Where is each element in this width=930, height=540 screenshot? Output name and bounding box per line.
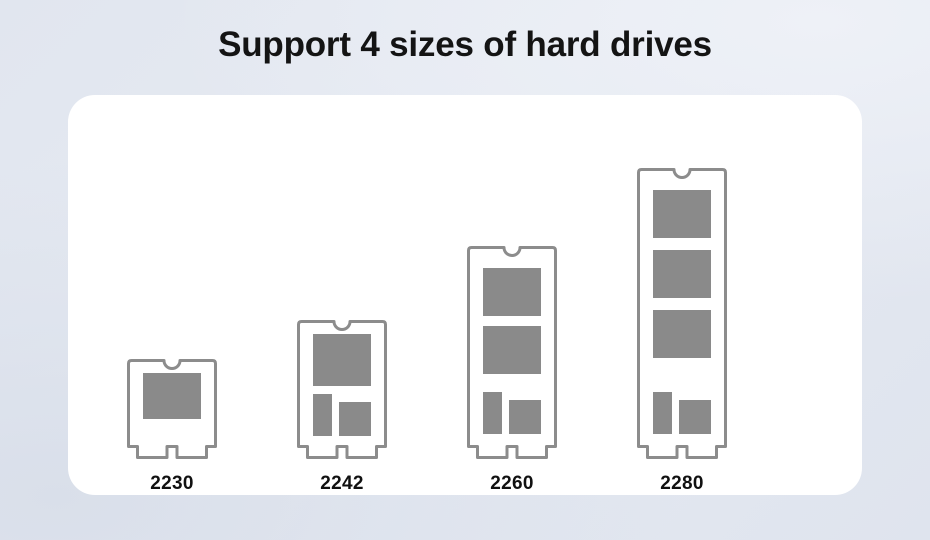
chip-narrow — [483, 392, 502, 434]
chip-square — [509, 400, 541, 434]
chip-square — [679, 400, 711, 434]
m2-ssd-module-icon — [450, 246, 574, 459]
module-label-2230: 2230 — [150, 473, 193, 495]
slide-canvas: Support 4 sizes of hard drives 2230 2242… — [0, 0, 930, 540]
m2-ssd-module-icon — [280, 320, 404, 459]
m2-ssd-module-icon — [127, 359, 217, 459]
chip-large — [483, 268, 541, 316]
m2-ssd-module-icon — [620, 168, 744, 459]
chip-large — [653, 250, 711, 298]
chip-narrow — [653, 392, 672, 434]
m2-ssd-module-icon — [297, 320, 387, 459]
module-label-2242: 2242 — [320, 473, 363, 495]
drive-module-2242[interactable]: 2242 — [280, 320, 404, 495]
m2-ssd-module-icon — [467, 246, 557, 459]
chip-large — [143, 373, 201, 419]
chip-narrow — [313, 394, 332, 436]
module-row: 2230 2242 2260 2280 — [68, 95, 862, 495]
drive-module-2280[interactable]: 2280 — [620, 168, 744, 495]
drive-size-card: 2230 2242 2260 2280 — [68, 95, 862, 495]
chip-large — [653, 310, 711, 358]
page-title: Support 4 sizes of hard drives — [0, 24, 930, 66]
drive-module-2230[interactable]: 2230 — [110, 359, 234, 495]
module-label-2260: 2260 — [490, 473, 533, 495]
m2-ssd-module-icon — [110, 359, 234, 459]
chip-square — [339, 402, 371, 436]
module-label-2280: 2280 — [660, 473, 703, 495]
chip-large — [313, 334, 371, 386]
drive-module-2260[interactable]: 2260 — [450, 246, 574, 495]
chip-large — [483, 326, 541, 374]
chip-large — [653, 190, 711, 238]
m2-ssd-module-icon — [637, 168, 727, 459]
